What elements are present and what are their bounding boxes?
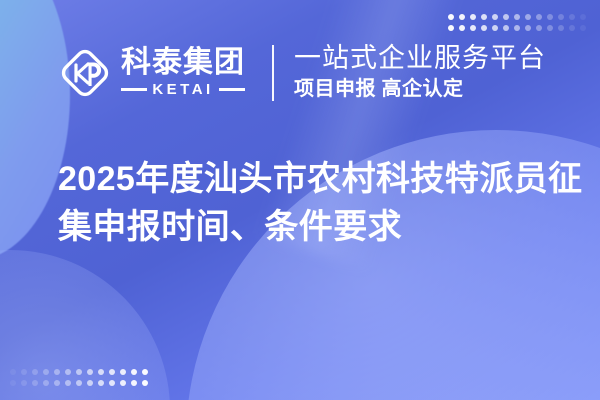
- brand-latin-row: KETAI: [121, 82, 245, 97]
- ketai-kp-diamond-logo-icon: [58, 46, 112, 100]
- promo-banner: 科泰集团 KETAI 一站式企业服务平台 项目申报 高企认定 2025年度汕头市…: [0, 0, 600, 400]
- dot-icon: [10, 380, 16, 386]
- dot-icon: [142, 380, 148, 386]
- dot-icon: [87, 380, 93, 386]
- dot-icon: [21, 380, 27, 386]
- headline-line-2: 集申报时间、条件要求: [58, 203, 558, 251]
- dot-icon: [65, 380, 71, 386]
- dot-icon: [131, 380, 137, 386]
- tagline-main: 一站式企业服务平台: [294, 43, 546, 73]
- dot-icon: [142, 369, 148, 375]
- dot-icon: [76, 380, 82, 386]
- dot-icon: [54, 380, 60, 386]
- dot-icon: [131, 369, 137, 375]
- dot-icon: [120, 369, 126, 375]
- dot-icon: [32, 380, 38, 386]
- dot-icon: [109, 369, 115, 375]
- vertical-divider-icon: [272, 45, 274, 101]
- dot-grid-bottom-left: [10, 369, 148, 386]
- dot-icon: [120, 380, 126, 386]
- dot-icon: [76, 369, 82, 375]
- dot-icon: [21, 369, 27, 375]
- dot-icon: [98, 380, 104, 386]
- dot-icon: [32, 369, 38, 375]
- brand-name-latin: KETAI: [152, 82, 213, 97]
- tagline-sub: 项目申报 高企认定: [294, 77, 546, 102]
- rule-left-icon: [121, 88, 147, 91]
- brand-name-cn: 科泰集团: [121, 48, 245, 78]
- headline: 2025年度汕头市农村科技特派员征 集申报时间、条件要求: [58, 155, 558, 252]
- dot-icon: [109, 380, 115, 386]
- dot-icon: [43, 369, 49, 375]
- dot-grid-row: [10, 369, 148, 375]
- dot-icon: [10, 369, 16, 375]
- brand-wordmark: 科泰集团 KETAI: [121, 48, 245, 97]
- dot-icon: [54, 369, 60, 375]
- dot-icon: [98, 369, 104, 375]
- dot-icon: [87, 369, 93, 375]
- headline-line-1: 2025年度汕头市农村科技特派员征: [58, 155, 558, 203]
- dot-grid-row: [10, 380, 148, 386]
- tagline-block: 一站式企业服务平台 项目申报 高企认定: [294, 43, 546, 101]
- dot-icon: [43, 380, 49, 386]
- banner-header: 科泰集团 KETAI 一站式企业服务平台 项目申报 高企认定: [0, 0, 600, 145]
- brand-logo[interactable]: 科泰集团 KETAI: [58, 46, 245, 100]
- rule-right-icon: [219, 88, 245, 91]
- dot-icon: [65, 369, 71, 375]
